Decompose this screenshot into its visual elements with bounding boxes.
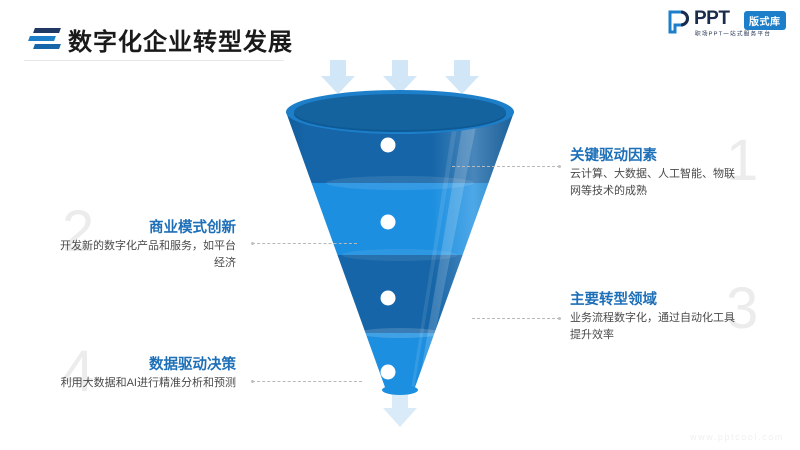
connector-line-1 — [452, 166, 560, 167]
callout-2-title: 商业模式创新 — [64, 216, 236, 237]
funnel-spout — [382, 385, 418, 395]
callout-3-title: 主要转型领域 — [570, 288, 657, 309]
connector-line-2 — [252, 243, 357, 244]
title-divider — [24, 60, 284, 61]
callout-4-desc: 利用大数据和AI进行精准分析和预测 — [56, 375, 236, 392]
page-title: 数字化企业转型发展 — [68, 22, 293, 57]
stage-dot-2 — [381, 215, 396, 230]
connector-dot-3 — [558, 317, 561, 320]
callout-1-title: 关键驱动因素 — [570, 144, 657, 165]
stage-dot-3 — [381, 291, 396, 306]
connector-dot-1 — [558, 165, 561, 168]
connector-dot-4 — [251, 380, 254, 383]
connector-line-3 — [472, 318, 560, 319]
brand-badge: 版式库 — [744, 11, 786, 30]
funnel-rim — [286, 90, 514, 134]
watermark: www.pptcool.com — [690, 432, 784, 442]
brand-tagline: 职场PPT一站式服务平台 — [695, 29, 771, 38]
callout-4-title: 数据驱动决策 — [64, 353, 236, 374]
funnel-svg — [268, 60, 532, 430]
p-logo-icon — [668, 10, 690, 34]
funnel-body — [268, 100, 532, 405]
brand-name: PPT — [694, 8, 729, 30]
outflow-arrow-icon — [383, 390, 417, 427]
callout-2-desc: 开发新的数字化产品和服务，如平台经济 — [56, 238, 236, 272]
callout-1-desc: 云计算、大数据、人工智能、物联网等技术的成熟 — [570, 166, 745, 200]
connector-dot-2 — [251, 242, 254, 245]
slide-canvas: 数字化企业转型发展 PPT 版式库 职场PPT一站式服务平台 — [0, 0, 800, 450]
three-bars-icon — [29, 28, 60, 50]
stage-dot-1 — [381, 138, 396, 153]
inflow-arrows-icon — [321, 60, 479, 94]
connector-line-4 — [252, 381, 362, 382]
stage-dot-4 — [381, 365, 396, 380]
funnel-diagram — [268, 60, 532, 430]
brand-logo: PPT 版式库 职场PPT一站式服务平台 — [668, 9, 786, 39]
callout-3-desc: 业务流程数字化，通过自动化工具提升效率 — [570, 310, 740, 344]
